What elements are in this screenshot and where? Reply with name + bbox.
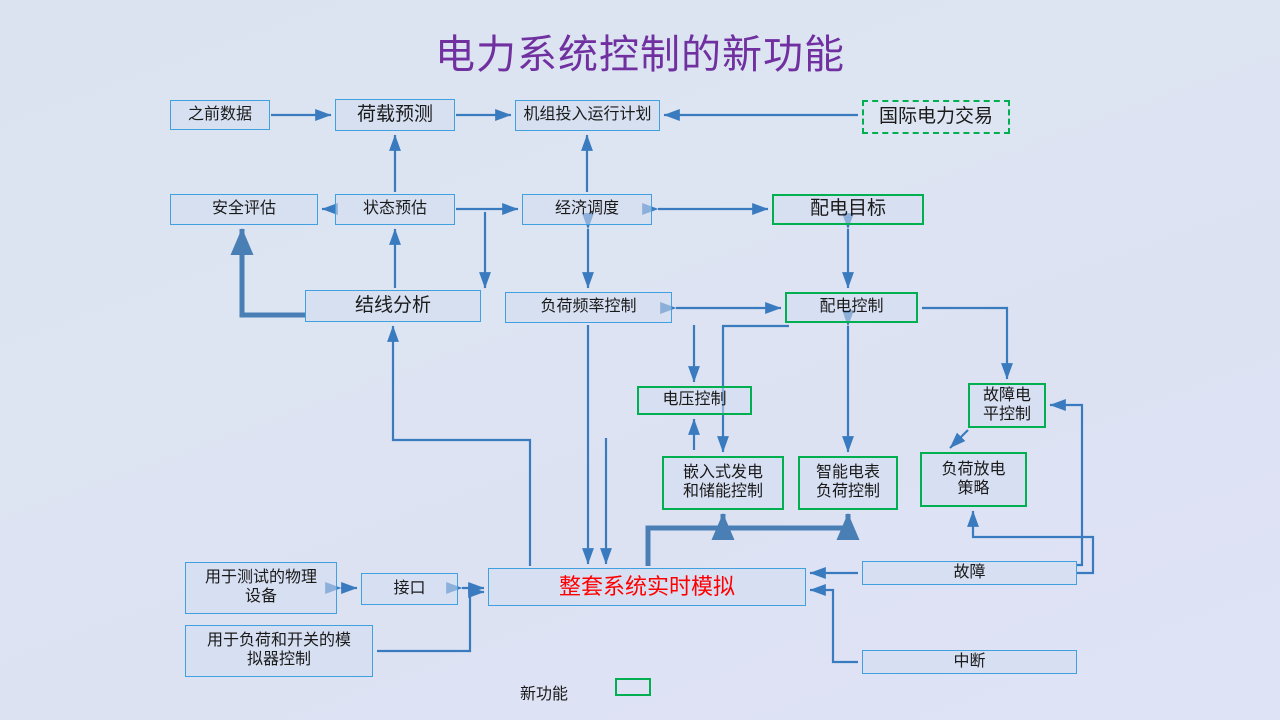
node-line-analysis[interactable]: 结线分析 [305,290,481,322]
node-fault[interactable]: 故障 [862,561,1077,585]
node-load-forecast[interactable]: 荷载预测 [335,99,455,131]
node-label: 之前数据 [188,106,252,125]
node-label: 接口 [393,580,425,599]
edge-realtime-sim-to-embedded-gen-thick [648,514,723,566]
node-label: 机组投入运行计划 [523,106,651,125]
legend-label: 新功能 [520,680,568,704]
node-embedded-generation-storage-control[interactable]: 嵌入式发电 和储能控制 [662,456,784,510]
edge-realtime-sim-to-smart-meter-thick [648,514,848,528]
node-label: 经济调度 [555,200,619,219]
node-label: 安全评估 [212,200,276,219]
node-label: 负荷放电 策略 [941,461,1005,499]
edge-fault-level-to-load-discharge [950,430,968,448]
node-smart-meter-load-control[interactable]: 智能电表 负荷控制 [798,456,898,510]
node-label: 配电目标 [810,198,886,220]
green-box-swatch [615,678,651,696]
page-title: 电力系统控制的新功能 [0,22,1280,80]
node-realtime-whole-system-simulation[interactable]: 整套系统实时模拟 [488,568,806,606]
node-prior-data[interactable]: 之前数据 [170,100,270,130]
node-interruption[interactable]: 中断 [862,650,1077,674]
node-load-discharge-strategy[interactable]: 负荷放电 策略 [920,452,1027,507]
node-label: 负荷频率控制 [540,298,636,317]
node-unit-commitment[interactable]: 机组投入运行计划 [515,100,660,131]
node-label: 状态预估 [363,200,427,219]
node-label: 故障电 平控制 [983,387,1031,425]
node-security-assessment[interactable]: 安全评估 [170,194,318,225]
node-label: 国际电力交易 [879,106,993,128]
node-intl-power-trade[interactable]: 国际电力交易 [862,100,1010,134]
node-load-frequency-control[interactable]: 负荷频率控制 [505,292,672,323]
node-label: 中断 [953,653,985,672]
edge-interruption-to-realtime-sim [810,590,858,662]
node-label: 智能电表 负荷控制 [816,464,880,502]
node-voltage-control[interactable]: 电压控制 [637,386,752,415]
edge-line-analysis-to-security-assess-thick [242,229,305,315]
node-label: 整套系统实时模拟 [559,574,735,600]
node-label: 故障 [953,564,985,583]
node-label: 荷载预测 [357,104,433,126]
node-economic-dispatch[interactable]: 经济调度 [522,194,652,225]
node-label: 配电控制 [819,298,883,317]
node-simulator-control[interactable]: 用于负荷和开关的模 拟器控制 [185,625,373,677]
edge-realtime-sim-to-line-analysis [393,326,530,566]
node-state-estimation[interactable]: 状态预估 [335,194,455,225]
node-physical-test-device[interactable]: 用于测试的物理 设备 [185,562,337,614]
node-fault-level-control[interactable]: 故障电 平控制 [968,383,1046,428]
node-distribution-control[interactable]: 配电控制 [785,292,918,323]
diagram-canvas: 电力系统控制的新功能 [0,0,1280,720]
node-label: 结线分析 [355,295,431,317]
node-label: 用于负荷和开关的模 拟器控制 [207,632,351,670]
node-label: 嵌入式发电 和储能控制 [683,464,763,502]
node-label: 用于测试的物理 设备 [205,569,317,607]
edge-fault-to-fault-level [1050,405,1082,565]
node-distribution-goal[interactable]: 配电目标 [772,194,924,225]
node-label: 电压控制 [662,391,726,410]
node-interface[interactable]: 接口 [361,573,458,605]
edge-distribution-ctrl-to-fault-level [922,308,1007,379]
